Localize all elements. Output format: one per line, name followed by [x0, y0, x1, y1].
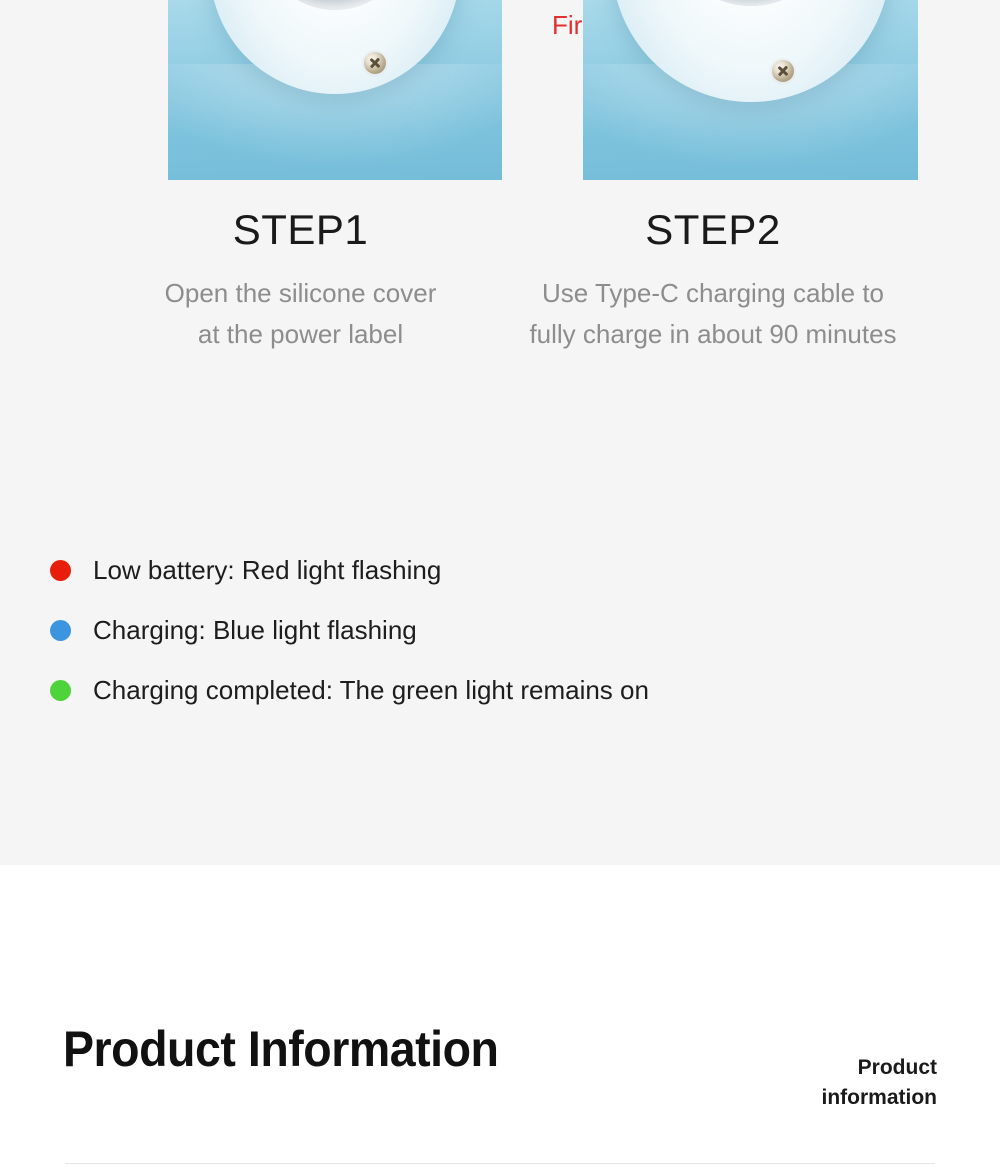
green-indicator-dot [50, 680, 71, 701]
step-1-description-line-1: Open the silicone cover [165, 278, 437, 308]
product-information-title: Product Information [63, 1020, 498, 1078]
status-item-low-battery: Low battery: Red light flashing [50, 540, 950, 600]
step-2-caption: STEP2 Use Type-C charging cable to fully… [528, 205, 898, 355]
step1-product-photo [168, 0, 502, 180]
step-1-description-line-2: at the power label [198, 319, 403, 349]
step-2-description: Use Type-C charging cable to fully charg… [528, 273, 898, 355]
status-item-charging-completed: Charging completed: The green light rema… [50, 660, 950, 720]
step-1-title: STEP1 [128, 205, 473, 255]
step2-product-photo [583, 0, 918, 180]
status-item-label: Charging completed: The green light rema… [93, 674, 649, 706]
status-item-charging: Charging: Blue light flashing [50, 600, 950, 660]
status-item-label: Charging: Blue light flashing [93, 614, 417, 646]
charging-instructions-panel: STEP1 Open the silicone cover at the pow… [0, 0, 1000, 865]
status-item-label: Low battery: Red light flashing [93, 554, 441, 586]
blue-indicator-dot [50, 620, 71, 641]
product-information-subtitle-line-1: Product [858, 1056, 937, 1079]
led-status-list: Low battery: Red light flashing Charging… [50, 540, 950, 720]
step-2-description-line-2: fully charge in about 90 minutes [529, 319, 896, 349]
product-information-section: Product Information Product information [0, 865, 1000, 1168]
section-divider [65, 1163, 935, 1164]
step-2-description-line-1: Use Type-C charging cable to [542, 278, 884, 308]
product-information-subtitle-line-2: information [822, 1086, 938, 1109]
screw-icon [364, 52, 386, 74]
screw-icon [772, 60, 794, 82]
product-information-subtitle: Product information [697, 1053, 937, 1113]
step-2-title: STEP2 [528, 205, 898, 255]
step-1-caption: STEP1 Open the silicone cover at the pow… [128, 205, 473, 355]
step-1-description: Open the silicone cover at the power lab… [128, 273, 473, 355]
red-indicator-dot [50, 560, 71, 581]
